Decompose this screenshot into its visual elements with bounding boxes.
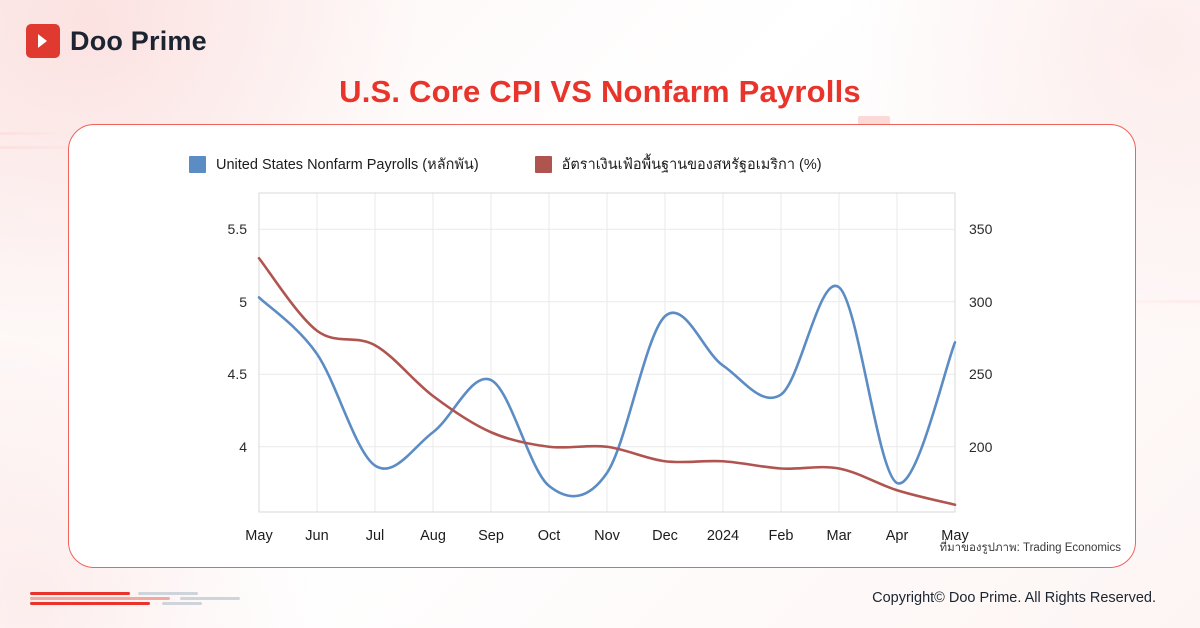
x-axis-tick: Mar	[827, 528, 852, 544]
background-streak	[0, 132, 70, 135]
y-axis-left-tick: 4.5	[228, 366, 247, 382]
copyright-text: Copyright© Doo Prime. All Rights Reserve…	[872, 590, 1156, 606]
legend-item-core-cpi: อัตราเงินเฟ้อพื้นฐานของสหรัฐอเมริกา (%)	[535, 153, 822, 176]
legend-label-core-cpi: อัตราเงินเฟ้อพื้นฐานของสหรัฐอเมริกา (%)	[562, 153, 822, 176]
chart-canvas	[187, 185, 1027, 560]
legend-swatch-red-icon	[535, 156, 552, 173]
x-axis-tick: May	[245, 528, 272, 544]
x-axis-tick: 2024	[707, 528, 739, 544]
x-axis-tick: Feb	[769, 528, 794, 544]
x-axis-tick: Aug	[420, 528, 446, 544]
legend-item-nonfarm-payrolls: United States Nonfarm Payrolls (หลักพัน)	[189, 153, 479, 176]
y-axis-right-tick: 250	[969, 366, 992, 382]
legend-label-nonfarm-payrolls: United States Nonfarm Payrolls (หลักพัน)	[216, 153, 479, 176]
brand-logo: Doo Prime	[26, 24, 207, 58]
page-title: U.S. Core CPI VS Nonfarm Payrolls	[0, 74, 1200, 110]
x-axis-tick: Jul	[366, 528, 385, 544]
chart-plot-area: 5.554.54350300250200MayJunJulAugSepOctNo…	[187, 185, 1027, 560]
chart-legend: United States Nonfarm Payrolls (หลักพัน)…	[189, 153, 822, 176]
legend-swatch-blue-icon	[189, 156, 206, 173]
y-axis-right-tick: 350	[969, 221, 992, 237]
x-axis-tick: Oct	[538, 528, 561, 544]
y-axis-left-tick: 5	[239, 294, 247, 310]
x-axis-tick: Jun	[305, 528, 328, 544]
y-axis-left-tick: 4	[239, 439, 247, 455]
chart-card: United States Nonfarm Payrolls (หลักพัน)…	[68, 124, 1136, 568]
x-axis-tick: Dec	[652, 528, 678, 544]
y-axis-left-tick: 5.5	[228, 221, 247, 237]
x-axis-tick: Nov	[594, 528, 620, 544]
y-axis-right-tick: 300	[969, 294, 992, 310]
footer-decoration-bars	[30, 592, 240, 606]
brand-name: Doo Prime	[70, 26, 207, 57]
x-axis-tick: Sep	[478, 528, 504, 544]
doo-prime-mark-icon	[26, 24, 60, 58]
chart-source-note: ที่มาของรูปภาพ: Trading Economics	[940, 539, 1122, 557]
y-axis-right-tick: 200	[969, 439, 992, 455]
x-axis-tick: Apr	[886, 528, 909, 544]
